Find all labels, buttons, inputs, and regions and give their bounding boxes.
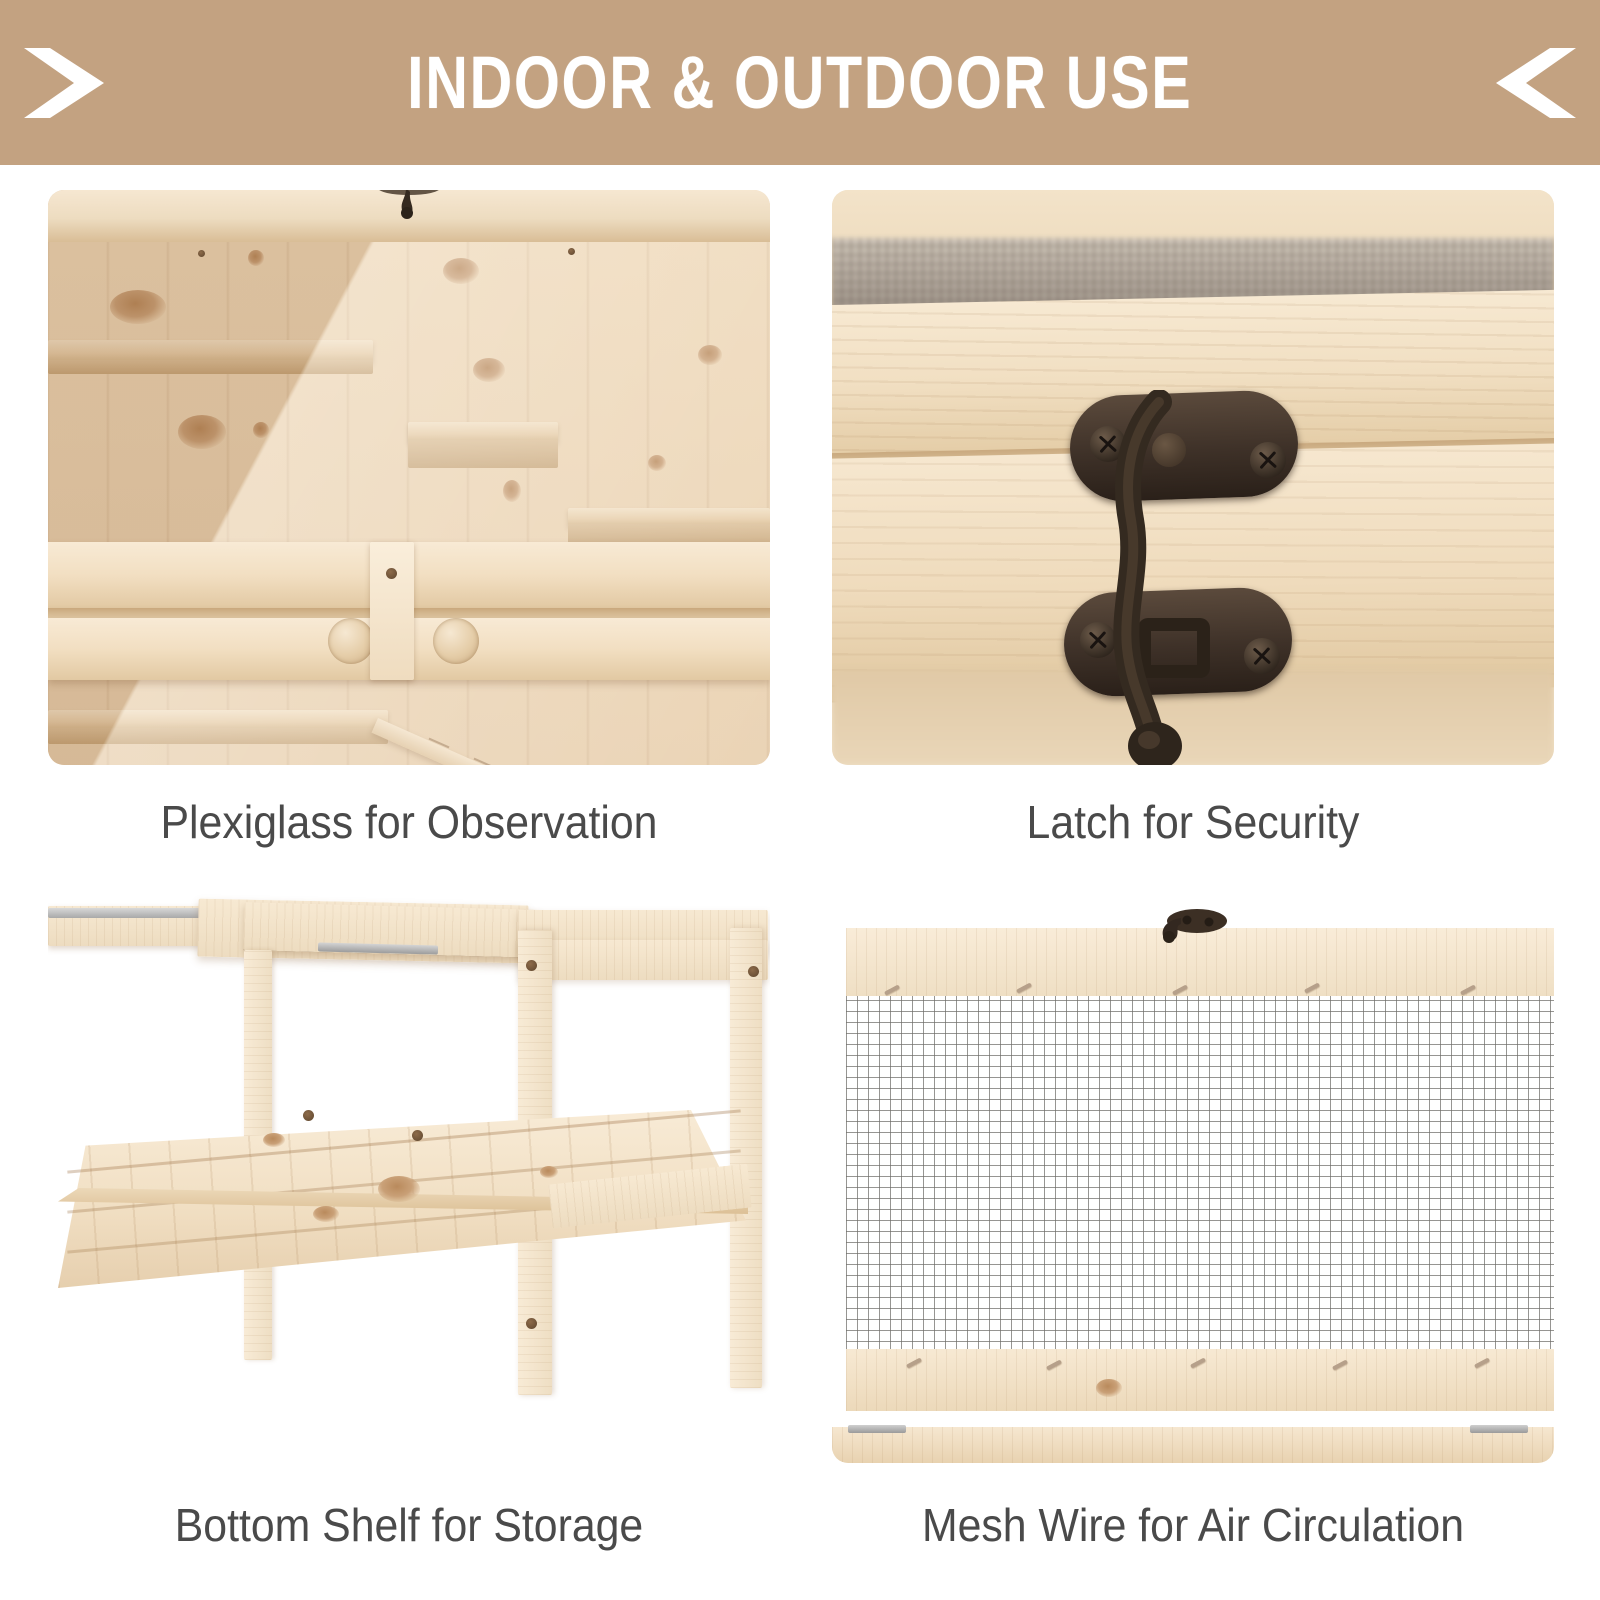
feature-card-latch bbox=[832, 190, 1554, 765]
staple-icon bbox=[1190, 1357, 1206, 1368]
interior-shelf-lower bbox=[48, 710, 388, 730]
chevron-left-icon bbox=[1488, 40, 1584, 126]
interior-ledge bbox=[408, 422, 558, 442]
feature-card-mesh bbox=[832, 888, 1554, 1463]
staple-icon bbox=[1016, 982, 1032, 993]
frame-rail-base bbox=[832, 1427, 1554, 1463]
screw-icon bbox=[198, 250, 205, 257]
wood-knot bbox=[648, 455, 666, 471]
staple-icon bbox=[1460, 984, 1476, 995]
wood-knot bbox=[313, 1206, 339, 1222]
latch-photo bbox=[832, 190, 1554, 765]
header-banner: INDOOR & OUTDOOR USE bbox=[0, 0, 1600, 165]
mesh-wire-photo bbox=[832, 888, 1554, 1463]
wood-knot bbox=[698, 345, 722, 365]
latch-hook-arm bbox=[1087, 390, 1267, 765]
plexiglass-photo bbox=[48, 190, 770, 765]
hinge-icon bbox=[848, 1425, 906, 1433]
bottom-shelf-photo bbox=[48, 888, 770, 1463]
screw-icon bbox=[386, 568, 397, 579]
cage-back-panel bbox=[48, 242, 770, 765]
wire-mesh-grid bbox=[846, 988, 1554, 1353]
feature-card-plexiglass bbox=[48, 190, 770, 765]
interior-shelf-lower-edge bbox=[48, 728, 388, 744]
frame-rail-bottom bbox=[846, 1349, 1554, 1411]
chevron-right-icon bbox=[16, 40, 112, 126]
product-feature-infographic: INDOOR & OUTDOOR USE bbox=[0, 0, 1600, 1600]
screw-icon bbox=[526, 960, 537, 971]
wood-knot bbox=[378, 1176, 420, 1202]
caption-shelf: Bottom Shelf for Storage bbox=[73, 1498, 744, 1552]
dowel-peg bbox=[328, 618, 374, 664]
caption-latch: Latch for Security bbox=[857, 795, 1528, 849]
hinge-icon bbox=[1470, 1425, 1528, 1433]
staple-icon bbox=[906, 1357, 922, 1368]
leg-front-right bbox=[730, 928, 762, 1388]
staple-icon bbox=[1046, 1359, 1062, 1370]
latch-hook-icon bbox=[376, 190, 442, 220]
center-connector-block bbox=[370, 542, 414, 680]
dowel-peg bbox=[433, 618, 479, 664]
screw-icon bbox=[748, 966, 759, 977]
wood-knot bbox=[503, 480, 521, 502]
wood-knot bbox=[178, 415, 226, 449]
interior-ledge-edge bbox=[408, 440, 558, 468]
latch-hook-icon bbox=[1151, 908, 1235, 946]
wood-knot bbox=[110, 290, 166, 324]
caption-mesh: Mesh Wire for Air Circulation bbox=[857, 1498, 1528, 1552]
screw-icon bbox=[526, 1318, 537, 1329]
feature-card-shelf bbox=[48, 888, 770, 1463]
screw-icon bbox=[303, 1110, 314, 1121]
interior-shelf-upper-edge bbox=[48, 360, 373, 374]
interior-shelf-upper bbox=[48, 340, 373, 362]
wood-knot bbox=[253, 422, 269, 438]
wood-knot bbox=[443, 258, 479, 284]
caption-plexiglass: Plexiglass for Observation bbox=[73, 795, 744, 849]
staple-icon bbox=[1304, 982, 1320, 993]
staple-icon bbox=[1474, 1357, 1490, 1368]
banner-title: INDOOR & OUTDOOR USE bbox=[407, 40, 1192, 125]
screw-icon bbox=[568, 248, 575, 255]
staple-icon bbox=[884, 984, 900, 995]
staple-icon bbox=[1332, 1359, 1348, 1370]
wood-knot bbox=[540, 1166, 558, 1178]
wood-knot bbox=[263, 1133, 285, 1147]
staple-icon bbox=[1172, 984, 1188, 995]
screw-icon bbox=[412, 1130, 423, 1141]
cage-top-cap bbox=[48, 190, 770, 242]
wood-knot bbox=[1096, 1379, 1122, 1397]
wood-knot bbox=[473, 358, 505, 382]
interior-plank-right-edge bbox=[568, 524, 770, 544]
wood-knot bbox=[248, 250, 264, 266]
